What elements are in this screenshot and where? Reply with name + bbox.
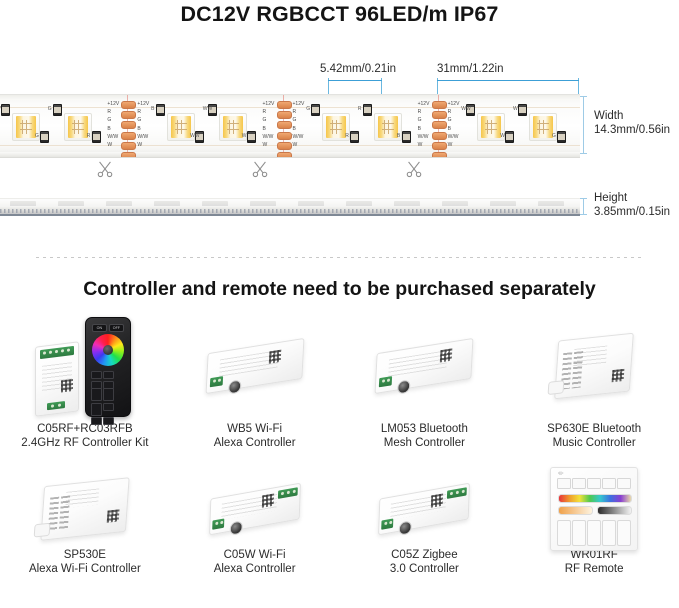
zone-button[interactable] — [617, 520, 631, 546]
channel-mark: W — [513, 106, 518, 112]
solder-pad-label: +12V — [293, 101, 305, 107]
side-led-bump — [202, 201, 228, 206]
solder-pad-column — [432, 101, 445, 158]
qr-code-icon — [440, 348, 452, 362]
scissors-icon — [250, 158, 270, 180]
green-terminal-block — [47, 401, 65, 410]
solder-pad-label: R — [137, 109, 141, 115]
height-value-text: 3.85mm/0.15in — [594, 206, 670, 218]
side-led-bump — [298, 201, 324, 206]
solder-pad-label: R — [263, 109, 267, 115]
led-chip-grid — [382, 120, 394, 134]
product-image-wb5 — [170, 312, 340, 420]
width-label: Width 14.3mm/0.56in — [594, 110, 670, 137]
channel-mark: B — [151, 106, 154, 112]
solder-pad — [432, 121, 447, 129]
mount-tab — [34, 523, 51, 538]
product-caption-c05w: C05W Wi-Fi Alexa Controller — [214, 546, 296, 576]
side-led-bump — [490, 201, 516, 206]
led-pitch-label: 5.42mm/0.21in — [320, 63, 396, 75]
pitch-measure-line — [328, 80, 382, 81]
solder-pad-label: B — [448, 126, 451, 132]
solder-pad — [432, 132, 447, 140]
caption-line-1: C05Z Zigbee — [391, 549, 457, 561]
solder-pad — [432, 152, 447, 158]
c05w-controller-body — [209, 483, 301, 536]
solder-pad-label: R — [107, 109, 111, 115]
side-led-bump — [154, 201, 180, 206]
dc-power-jack — [399, 520, 412, 536]
dc-power-jack — [397, 379, 411, 394]
solder-pad — [277, 121, 292, 129]
wall-remote-body: •|||• — [550, 467, 638, 551]
green-terminal-block — [209, 376, 222, 387]
product-card-c05rf-rc03rfb[interactable]: ON OFF — [0, 312, 170, 450]
smd-resistor — [518, 104, 527, 116]
mount-tab — [548, 380, 565, 395]
product-caption-c05rf-rc03rfb: C05RF+RC03RFB 2.4GHz RF Controller Kit — [21, 420, 148, 450]
page-title: DC12V RGBCCT 96LED/m IP67 — [0, 2, 679, 27]
led-chip-grid — [227, 120, 239, 134]
smd-resistor — [311, 104, 320, 116]
channel-mark: W — [242, 133, 247, 139]
green-terminal-block — [212, 518, 224, 529]
smd-resistor — [505, 131, 514, 143]
solder-pad-label: W — [107, 142, 112, 148]
solder-pad-label: +12V — [418, 101, 430, 107]
product-row-2: SP530E Alexa Wi-Fi Controller — [0, 472, 679, 576]
cut-segment-label: 31mm/1.22in — [437, 63, 503, 75]
led-chip-grid — [330, 120, 342, 134]
pin-header-row — [59, 495, 70, 530]
panel-button[interactable] — [602, 478, 616, 489]
product-image-c05z — [340, 472, 510, 546]
product-card-c05w[interactable]: C05W Wi-Fi Alexa Controller — [170, 472, 340, 576]
remote-button-pad-lower[interactable] — [91, 388, 125, 425]
product-row-1: ON OFF — [0, 312, 679, 450]
brightness-slider[interactable] — [597, 506, 632, 515]
solder-pad-label: W — [448, 142, 453, 148]
product-card-lm053[interactable]: LM053 Bluetooth Mesh Controller — [340, 312, 510, 450]
solder-pad — [277, 132, 292, 140]
qr-code-icon — [612, 369, 625, 382]
product-caption-lm053: LM053 Bluetooth Mesh Controller — [381, 420, 468, 450]
caption-line-1: SP530E — [64, 549, 106, 561]
solder-pad-label: B — [263, 126, 266, 132]
smd-resistor — [402, 131, 411, 143]
channel-mark: G — [306, 106, 310, 112]
channel-mark: WW — [461, 106, 470, 112]
solder-pad-label: G — [107, 117, 111, 123]
panel-button[interactable] — [587, 478, 601, 489]
solder-pad-label: R — [293, 109, 297, 115]
caption-line-2: Alexa Wi-Fi Controller — [29, 562, 141, 576]
solder-pad-label: W/W — [448, 134, 459, 140]
panel-top-buttons[interactable] — [557, 478, 631, 489]
caption-line-2: Alexa Controller — [214, 562, 296, 576]
green-terminal-block — [40, 346, 74, 359]
dc-power-jack — [228, 379, 242, 394]
brand-logo: •|||• — [558, 471, 563, 475]
height-label-text: Height — [594, 192, 627, 204]
color-wheel[interactable] — [92, 334, 124, 366]
solder-pad-label: W/W — [293, 134, 304, 140]
zone-button[interactable] — [602, 520, 616, 546]
qr-code-icon — [431, 493, 443, 507]
product-image-c05w — [170, 472, 340, 546]
channel-mark: R — [345, 133, 349, 139]
color-temperature-slider[interactable] — [558, 506, 593, 515]
channel-mark: G — [48, 106, 52, 112]
led-chip-grid — [485, 120, 497, 134]
remote-off-button[interactable]: OFF — [109, 324, 124, 332]
caption-line-2: 2.4GHz RF Controller Kit — [21, 436, 148, 450]
product-image-lm053 — [340, 312, 510, 420]
caption-line-1: WB5 Wi-Fi — [227, 423, 282, 435]
solder-pad — [121, 111, 136, 119]
product-image-c05rf-rc03rfb: ON OFF — [0, 312, 170, 420]
solder-pad-label: B — [293, 126, 296, 132]
solder-pad-label: G — [137, 117, 141, 123]
panel-button[interactable] — [617, 478, 631, 489]
solder-pad-label: W — [293, 142, 298, 148]
product-card-sp530e[interactable]: SP530E Alexa Wi-Fi Controller — [0, 472, 170, 576]
solder-pad-label: G — [448, 117, 452, 123]
channel-mark: R — [87, 133, 91, 139]
lm053-controller-body — [375, 338, 474, 394]
solder-pad-label: +12V — [107, 101, 119, 107]
controllers-heading: Controller and remote need to be purchas… — [0, 278, 679, 301]
label-print — [388, 350, 448, 377]
solder-pad — [121, 152, 136, 158]
smd-resistor — [53, 104, 62, 116]
side-view-teeth — [0, 209, 580, 213]
sp530e-controller-body — [40, 477, 129, 541]
solder-pad-label: B — [137, 126, 140, 132]
channel-mark: G — [552, 133, 556, 139]
channel-mark: W — [500, 133, 505, 139]
side-led-bump — [10, 201, 36, 206]
width-value-text: 14.3mm/0.56in — [594, 124, 670, 136]
product-caption-wb5: WB5 Wi-Fi Alexa Controller — [214, 420, 296, 450]
product-image-sp530e — [0, 472, 170, 546]
zone-button[interactable] — [572, 520, 586, 546]
solder-pad — [121, 142, 136, 150]
remote-on-button[interactable]: ON — [92, 324, 107, 332]
led-chip-grid — [72, 120, 84, 134]
scissors-icon — [95, 158, 115, 180]
green-terminal-block — [379, 376, 392, 387]
caption-line-1: SP630E Bluetooth — [547, 423, 641, 435]
zone-button[interactable] — [557, 520, 571, 546]
solder-pad — [277, 101, 292, 109]
product-grid: ON OFF — [0, 312, 679, 576]
solder-pad-label: W — [137, 142, 142, 148]
smd-resistor — [363, 104, 372, 116]
smd-resistor — [1, 104, 10, 116]
caption-line-1: LM053 Bluetooth — [381, 423, 468, 435]
solder-pad — [432, 142, 447, 150]
rf-remote-body: ON OFF — [85, 317, 131, 417]
smd-resistor — [247, 131, 256, 143]
led-chip-grid — [20, 120, 32, 134]
product-card-wb5[interactable]: WB5 Wi-Fi Alexa Controller — [170, 312, 340, 450]
smd-resistor — [40, 131, 49, 143]
panel-button[interactable] — [572, 478, 586, 489]
solder-pad-label: G — [293, 117, 297, 123]
sp630e-controller-body — [554, 333, 634, 400]
section-divider — [36, 257, 643, 258]
solder-pad-label: G — [263, 117, 267, 123]
width-label-text: Width — [594, 110, 623, 122]
solder-pad — [121, 132, 136, 140]
channel-mark: WW — [203, 106, 212, 112]
c05z-controller-body — [378, 483, 470, 536]
product-caption-c05z: C05Z Zigbee 3.0 Controller — [390, 546, 459, 576]
channel-mark: R — [358, 106, 362, 112]
solder-pad-label: B — [418, 126, 421, 132]
solder-pad-label: B — [107, 126, 110, 132]
caption-line-1: C05W Wi-Fi — [224, 549, 286, 561]
channel-mark: WW — [190, 133, 199, 139]
solder-pad — [121, 121, 136, 129]
solder-pad — [432, 111, 447, 119]
solder-pad-label: W/W — [418, 134, 429, 140]
solder-pad-label: +12V — [263, 101, 275, 107]
height-bracket — [583, 198, 584, 215]
led-chip-grid — [537, 120, 549, 134]
solder-pad-label: R — [418, 109, 422, 115]
solder-pad-label: W/W — [263, 134, 274, 140]
channel-mark: B — [397, 133, 400, 139]
side-led-bump — [58, 201, 84, 206]
solder-pad-column — [277, 101, 290, 158]
solder-pad-label: +12V — [448, 101, 460, 107]
qr-code-icon — [268, 350, 280, 364]
side-led-bump — [538, 201, 564, 206]
side-led-bump — [442, 201, 468, 206]
product-image-wr01rf: •|||• — [509, 472, 679, 546]
solder-pad-label: W/W — [137, 134, 148, 140]
caption-line-2: 3.0 Controller — [390, 562, 459, 576]
led-strip-top-view: WGGR+12V+12VRRGGBBW/WW/WWWBWWWWW+12V+12V… — [0, 94, 580, 158]
product-caption-sp630e: SP630E Bluetooth Music Controller — [547, 420, 641, 450]
zone-button[interactable] — [587, 520, 601, 546]
caption-line-2: Music Controller — [547, 436, 641, 450]
solder-pad-column — [121, 101, 134, 158]
height-label: Height 3.85mm/0.15in — [594, 192, 670, 219]
pin-header-row — [572, 351, 584, 388]
side-led-bump — [346, 201, 372, 206]
solder-pad-label: +12V — [137, 101, 149, 107]
wb5-controller-body — [205, 338, 304, 394]
product-infographic: DC12V RGBCCT 96LED/m IP67 5.42mm/0.21in … — [0, 0, 679, 608]
channel-mark: W — [0, 106, 1, 112]
solder-pad — [277, 111, 292, 119]
side-led-bump — [106, 201, 132, 206]
product-caption-sp530e: SP530E Alexa Wi-Fi Controller — [29, 546, 141, 576]
led-strip-side-view — [0, 198, 580, 216]
product-card-sp630e[interactable]: SP630E Bluetooth Music Controller — [509, 312, 679, 450]
solder-pad — [121, 101, 136, 109]
green-terminal-block — [382, 518, 394, 529]
channel-mark: G — [35, 133, 39, 139]
side-view-base — [0, 214, 580, 216]
scissors-icon — [404, 158, 424, 180]
solder-pad — [277, 152, 292, 158]
solder-pad — [277, 142, 292, 150]
qr-code-icon — [61, 379, 73, 392]
smd-resistor — [557, 131, 566, 143]
led-chip-grid — [175, 120, 187, 134]
solder-pad-label: W — [263, 142, 268, 148]
smd-resistor — [92, 131, 101, 143]
color-spectrum-slider[interactable] — [558, 494, 632, 503]
caption-line-2: RF Remote — [565, 562, 624, 576]
panel-button[interactable] — [557, 478, 571, 489]
dc-power-jack — [229, 520, 242, 536]
qr-code-icon — [107, 509, 120, 522]
solder-pad — [432, 101, 447, 109]
segment-measure-line — [437, 80, 579, 81]
strip-edge-top — [0, 95, 580, 100]
solder-pad-label: W — [418, 142, 423, 148]
rf-controller-body — [35, 341, 79, 416]
panel-zone-buttons[interactable] — [557, 520, 631, 546]
smd-resistor — [350, 131, 359, 143]
caption-line-2: Mesh Controller — [381, 436, 468, 450]
label-print — [65, 489, 100, 508]
caption-line-2: Alexa Controller — [214, 436, 296, 450]
solder-pad-label: W/W — [107, 134, 118, 140]
green-terminal-block — [447, 487, 467, 499]
product-image-sp630e — [509, 312, 679, 420]
width-bracket — [583, 96, 584, 154]
smd-resistor — [156, 104, 165, 116]
qr-code-icon — [262, 493, 274, 507]
side-led-bump — [250, 201, 276, 206]
product-card-c05z[interactable]: C05Z Zigbee 3.0 Controller — [340, 472, 510, 576]
product-card-wr01rf[interactable]: •|||• — [509, 472, 679, 576]
solder-pad-label: G — [418, 117, 422, 123]
side-led-bump — [394, 201, 420, 206]
green-terminal-block — [277, 487, 297, 499]
solder-pad-label: R — [448, 109, 452, 115]
